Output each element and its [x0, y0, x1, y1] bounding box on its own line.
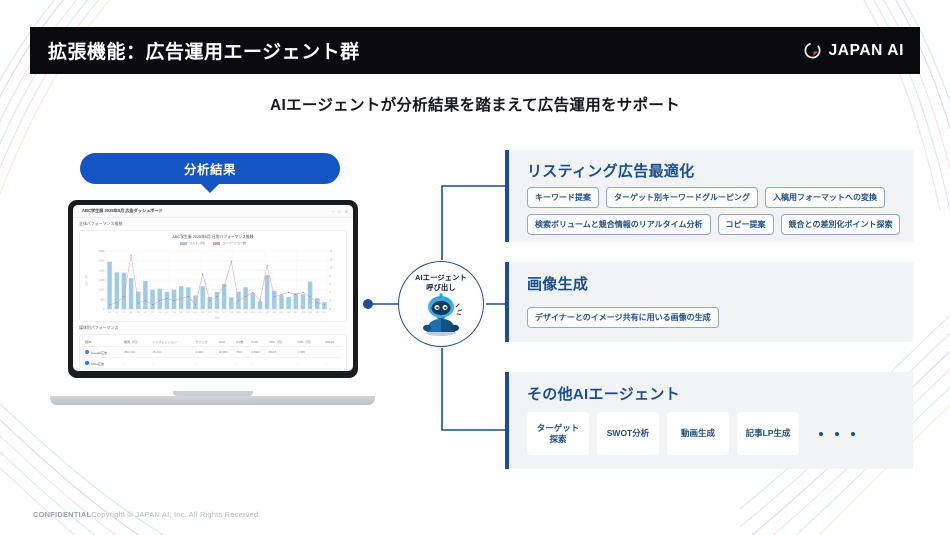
table-cell: 2,902 — [194, 347, 217, 358]
svg-text:2,000: 2,000 — [99, 269, 106, 272]
dashboard-app: ‹ ABC学生服 2025年5月 広告ダッシュボード − □ ✕ 全体パフォーマ… — [73, 205, 353, 371]
table-cell: - — [325, 369, 343, 372]
table-col-header: ROAS — [325, 337, 343, 347]
back-arrow-icon[interactable]: ‹ — [78, 209, 79, 214]
slide-subtitle: AIエージェントが分析結果を踏まえて広告運用をサポート — [0, 93, 950, 115]
confidential-label: CONFIDENTIAL — [33, 510, 91, 519]
table-cell: - — [151, 358, 194, 369]
svg-text:5/21: 5/21 — [251, 312, 255, 314]
flow-start-dot — [363, 299, 373, 309]
table-col-header: 費用（円） — [123, 337, 151, 347]
panel-tags-row2: 検索ボリュームと競合情報のリアルタイム分析 コピー提案 競合との差別化ポイント探… — [527, 214, 900, 235]
svg-text:5/8: 5/8 — [158, 312, 161, 314]
svg-text:5/5: 5/5 — [137, 312, 140, 314]
svg-text:1,500: 1,500 — [99, 279, 106, 282]
table-cell: - — [235, 358, 250, 369]
card-swot-analysis[interactable]: SWOT分析 — [597, 412, 659, 455]
table-cell: - — [218, 369, 235, 372]
performance-chart: 05001,0001,5002,0002,5003,00002468101214… — [84, 247, 342, 319]
table-cell: - — [268, 358, 297, 369]
table-cell: - — [250, 358, 267, 369]
copyright-text: Copyright © JAPAN AI, Inc. All Rights Re… — [91, 510, 260, 519]
svg-text:5/7: 5/7 — [151, 312, 154, 314]
table-cell-media: Twitter広告 — [84, 369, 123, 372]
table-cell-media: Google広告 — [84, 347, 123, 358]
panel-title-listing-ads: リスティング広告最適化 — [527, 160, 694, 181]
card-target-exploration[interactable]: ターゲット 探索 — [527, 412, 589, 455]
table-cell: 15,341 — [151, 347, 194, 358]
svg-text:5/3: 5/3 — [123, 312, 126, 314]
svg-text:0: 0 — [330, 308, 332, 311]
table-cell: - — [250, 369, 267, 372]
table-body: Google広告452,13015,3412,90218.9%78.02.69%… — [84, 347, 342, 372]
media-table-card: 媒体費用（円）インプレッションクリックCTRCV数CVRCPC（円）CPA（円）… — [79, 334, 347, 371]
laptop-base — [50, 396, 375, 405]
svg-text:2,500: 2,500 — [99, 260, 106, 263]
table-col-header: CVR — [250, 337, 267, 347]
legend-item-cost: コスト（円） — [180, 241, 207, 245]
svg-text:5/23: 5/23 — [265, 312, 269, 314]
svg-text:5/6: 5/6 — [144, 312, 147, 314]
table-cell: - — [194, 369, 217, 372]
svg-text:5/2: 5/2 — [115, 312, 118, 314]
svg-text:1,000: 1,000 — [99, 289, 106, 292]
media-dot-icon — [85, 350, 89, 354]
ai-agent-node-line2: 呼び出し — [426, 283, 456, 293]
robot-icon — [418, 293, 464, 337]
svg-text:5/22: 5/22 — [258, 312, 262, 314]
svg-text:5/12: 5/12 — [187, 312, 191, 314]
analysis-result-callout: 分析結果 — [80, 153, 340, 193]
table-col-header: CV数 — [235, 337, 250, 347]
tag-keyword-suggestion[interactable]: キーワード提案 — [527, 187, 599, 208]
chart-card: ABC学生服 2025年5月 日別パフォーマンス推移 コスト（円） コンバージョ… — [79, 230, 347, 322]
svg-text:5/20: 5/20 — [244, 312, 248, 314]
table-row[interactable]: Meta広告--------- — [84, 358, 342, 369]
svg-text:5/24: 5/24 — [272, 312, 276, 314]
panel-tags-row1: キーワード提案 ターゲット別キーワードグルーピング 入稿用フォーマットへの変換 — [527, 187, 885, 208]
svg-text:4: 4 — [330, 291, 332, 294]
analysis-result-pill: 分析結果 — [80, 153, 340, 184]
table-cell: - — [194, 358, 217, 369]
table-header-row: 媒体費用（円）インプレッションクリックCTRCV数CVRCPC（円）CPA（円）… — [84, 337, 342, 347]
page-title: 拡張機能：広告運用エージェント群 — [48, 37, 360, 64]
svg-text:5/25: 5/25 — [280, 312, 284, 314]
ai-agent-node-line1: AIエージェント — [415, 273, 467, 283]
brand-logo-text: JAPAN AI — [829, 42, 904, 60]
card-label: 記事LP生成 — [746, 428, 791, 439]
table-cell: 4,800 — [296, 347, 324, 358]
svg-text:日付: 日付 — [215, 316, 220, 320]
card-label: ターゲット 探索 — [537, 423, 580, 444]
svg-text:5/13: 5/13 — [194, 312, 198, 314]
dashboard-body: 全体パフォーマンス推移 ABC学生服 2025年5月 日別パフォーマンス推移 コ… — [73, 218, 353, 371]
svg-text:500: 500 — [101, 298, 106, 301]
close-icon[interactable]: ✕ — [345, 209, 348, 214]
card-video-generation[interactable]: 動画生成 — [667, 412, 729, 455]
slide-root: 拡張機能：広告運用エージェント群 JAPAN AI AIエージェントが分析結果を… — [0, 0, 950, 535]
table-col-header: インプレッション — [151, 337, 194, 347]
dashboard-section2-label: 媒体別パフォーマンス — [79, 326, 353, 332]
table-cell: - — [268, 369, 297, 372]
svg-text:10: 10 — [330, 267, 333, 270]
svg-text:5/31: 5/31 — [323, 312, 327, 314]
svg-text:0: 0 — [103, 308, 105, 311]
svg-text:コスト（円）: コスト（円） — [84, 273, 88, 286]
table-cell: - — [296, 358, 324, 369]
table-cell: 78.0 — [235, 347, 250, 358]
svg-text:2: 2 — [330, 300, 332, 303]
card-article-lp-generation[interactable]: 記事LP生成 — [737, 412, 799, 455]
table-col-header: CPC（円） — [268, 337, 297, 347]
svg-text:6: 6 — [330, 283, 332, 286]
svg-text:12: 12 — [330, 258, 333, 261]
svg-text:5/16: 5/16 — [215, 312, 219, 314]
legend-item-conversions: コンバージョン数 — [213, 241, 246, 245]
media-performance-table: 媒体費用（円）インプレッションクリックCTRCV数CVRCPC（円）CPA（円）… — [84, 337, 342, 371]
svg-text:5/28: 5/28 — [301, 312, 305, 314]
table-row[interactable]: Google広告452,13015,3412,90218.9%78.02.69%… — [84, 347, 342, 358]
pill-arrow-icon — [201, 184, 219, 193]
svg-text:5/1: 5/1 — [108, 312, 111, 314]
svg-text:5/4: 5/4 — [130, 312, 133, 314]
table-cell: - — [123, 369, 151, 372]
svg-text:5/26: 5/26 — [287, 312, 291, 314]
table-cell: 464.5 — [268, 347, 297, 358]
svg-text:5/14: 5/14 — [201, 312, 205, 314]
analysis-result-label: 分析結果 — [184, 159, 236, 178]
tag-differentiation-points[interactable]: 競合との差別化ポイント探索 — [781, 214, 901, 235]
svg-text:14: 14 — [330, 250, 333, 253]
window-controls[interactable]: − □ ✕ — [332, 209, 348, 214]
card-label: SWOT分析 — [607, 428, 650, 439]
table-cell: - — [325, 358, 343, 369]
svg-text:5/30: 5/30 — [315, 312, 319, 314]
panel-other-agents: その他AIエージェント ターゲット 探索 SWOT分析 動画生成 記事LP生成 — [505, 372, 913, 469]
tag-format-conversion[interactable]: 入稿用フォーマットへの変換 — [765, 187, 885, 208]
table-cell: - — [325, 347, 343, 358]
table-cell: 452,130 — [123, 347, 151, 358]
panel-accent-bar — [505, 150, 509, 242]
ai-agent-node: AIエージェント 呼び出し — [398, 261, 484, 347]
chart-title: ABC学生服 2025年5月 日別パフォーマンス推移 — [73, 234, 353, 240]
table-cell: 2.69% — [250, 347, 267, 358]
tag-designer-image-generation[interactable]: デザイナーとのイメージ共有に用いる画像の生成 — [527, 307, 719, 328]
tag-realtime-analysis[interactable]: 検索ボリュームと競合情報のリアルタイム分析 — [527, 214, 711, 235]
table-row[interactable]: Twitter広告--------- — [84, 369, 342, 372]
dashboard-section1-label: 全体パフォーマンス推移 — [79, 222, 353, 228]
svg-text:3,000: 3,000 — [99, 250, 106, 253]
panel-image-generation: 画像生成 デザイナーとのイメージ共有に用いる画像の生成 — [505, 262, 913, 342]
svg-text:5/9: 5/9 — [166, 312, 169, 314]
chart-legend: コスト（円） コンバージョン数 — [84, 241, 342, 245]
laptop-mockup: ‹ ABC学生服 2025年5月 広告ダッシュボード − □ ✕ 全体パフォーマ… — [50, 200, 375, 405]
svg-text:5/17: 5/17 — [222, 312, 226, 314]
card-label: 動画生成 — [681, 428, 715, 439]
svg-text:5/29: 5/29 — [308, 312, 312, 314]
japan-ai-ring-icon — [803, 41, 822, 60]
panel-title-other-agents: その他AIエージェント — [527, 383, 680, 404]
tag-keyword-grouping[interactable]: ターゲット別キーワードグルーピング — [606, 187, 758, 208]
tag-copy-suggestion[interactable]: コピー提案 — [718, 214, 774, 235]
table-col-header: 媒体 — [84, 337, 123, 347]
svg-text:8: 8 — [330, 275, 332, 278]
brand-logo: JAPAN AI — [803, 41, 904, 60]
dashboard-window-title: ABC学生服 2025年5月 広告ダッシュボード — [82, 208, 163, 214]
panel-tags-image: デザイナーとのイメージ共有に用いる画像の生成 — [527, 307, 719, 328]
table-cell: - — [296, 369, 324, 372]
table-cell: 18.9% — [218, 347, 235, 358]
table-cell: - — [123, 358, 151, 369]
table-col-header: CTR — [218, 337, 235, 347]
table-cell: - — [235, 369, 250, 372]
panel-title-image-generation: 画像生成 — [527, 273, 588, 294]
more-items-ellipsis-icon — [819, 432, 855, 436]
panel-accent-bar — [505, 262, 509, 342]
svg-text:5/27: 5/27 — [294, 312, 298, 314]
panel-accent-bar — [505, 372, 509, 469]
svg-text:5/18: 5/18 — [229, 312, 233, 314]
table-cell-media: Meta広告 — [84, 358, 123, 369]
panel-cards-other-agents: ターゲット 探索 SWOT分析 動画生成 記事LP生成 — [527, 412, 855, 455]
panel-listing-ads: リスティング広告最適化 キーワード提案 ターゲット別キーワードグルーピング 入稿… — [505, 150, 913, 242]
slide-header: 拡張機能：広告運用エージェント群 JAPAN AI — [30, 27, 920, 74]
media-dot-icon — [85, 361, 89, 365]
table-cell: - — [151, 369, 194, 372]
maximize-icon[interactable]: □ — [338, 209, 340, 214]
svg-text:5/11: 5/11 — [179, 312, 183, 314]
table-col-header: クリック — [194, 337, 217, 347]
minimize-icon[interactable]: − — [332, 209, 334, 214]
dashboard-titlebar: ‹ ABC学生服 2025年5月 広告ダッシュボード − □ ✕ — [73, 205, 353, 218]
laptop-screen: ‹ ABC学生服 2025年5月 広告ダッシュボード − □ ✕ 全体パフォーマ… — [68, 200, 358, 378]
svg-text:5/19: 5/19 — [237, 312, 241, 314]
svg-text:5/15: 5/15 — [208, 312, 212, 314]
table-cell: - — [218, 358, 235, 369]
svg-text:5/10: 5/10 — [172, 312, 176, 314]
slide-footer: CONFIDENTIALCopyright © JAPAN AI, Inc. A… — [33, 510, 261, 519]
table-col-header: CPA（円） — [296, 337, 324, 347]
